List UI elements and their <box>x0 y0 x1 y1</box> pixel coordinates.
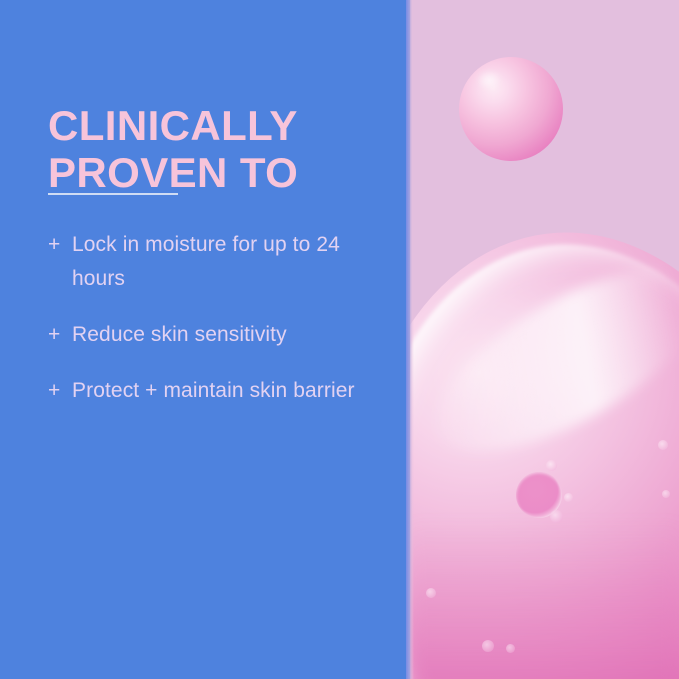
plus-icon: + <box>48 318 72 352</box>
list-item-label: Reduce skin sensitivity <box>72 318 287 352</box>
list-item-label: Lock in moisture for up to 24 hours <box>72 228 393 296</box>
gel-blob-shadow <box>410 520 679 679</box>
list-item: + Reduce skin sensitivity <box>48 318 393 352</box>
title-underline <box>48 193 178 195</box>
claims-list: + Lock in moisture for up to 24 hours + … <box>48 228 393 430</box>
list-item: + Protect + maintain skin barrier <box>48 374 393 408</box>
gel-bubble-small <box>564 493 573 502</box>
gel-bubble-small <box>658 440 668 450</box>
gel-bubble-small <box>546 460 557 471</box>
gel-bubble-small <box>506 644 515 653</box>
product-image-panel <box>410 0 679 679</box>
plus-icon: + <box>48 374 72 408</box>
gel-bubble-small <box>550 510 563 523</box>
sphere-highlight <box>476 70 502 90</box>
plus-icon: + <box>48 228 72 262</box>
gel-bubble-small <box>426 588 436 598</box>
gel-bubble-small <box>662 490 670 498</box>
glossy-pink-sphere <box>459 57 563 161</box>
promo-graphic: Clinically proven to + Lock in moisture … <box>0 0 679 679</box>
page-title: Clinically proven to <box>48 102 388 196</box>
gel-bubble-small <box>482 640 494 652</box>
list-item-label: Protect + maintain skin barrier <box>72 374 355 408</box>
list-item: + Lock in moisture for up to 24 hours <box>48 228 393 296</box>
